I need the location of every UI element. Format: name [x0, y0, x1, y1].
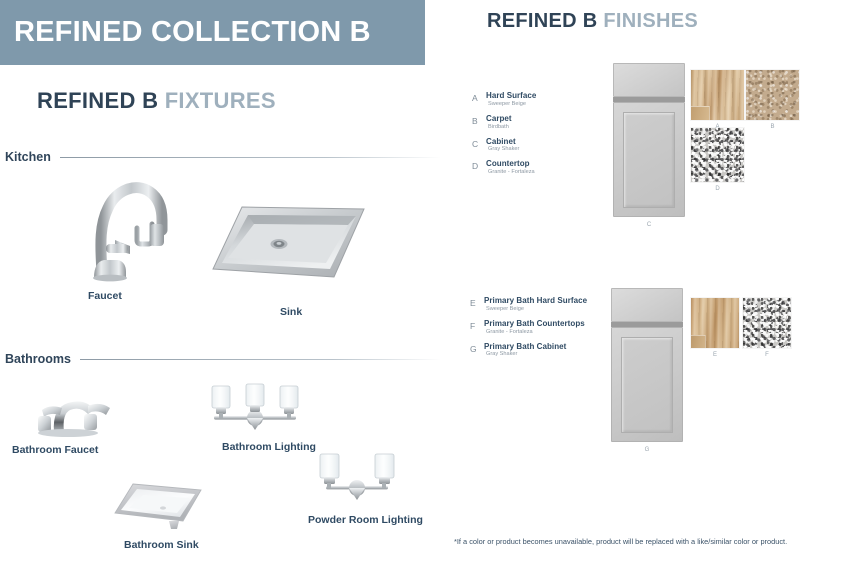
- kitchen-sink-caption: Sink: [280, 306, 302, 318]
- swatch-letter-d: D: [691, 186, 744, 192]
- legend-letter-b: B: [472, 115, 486, 126]
- legend-sub-e: Sweeper Beige: [484, 307, 587, 313]
- legend-letter-c: C: [472, 138, 486, 149]
- fixtures-title-light: FIXTURES: [165, 88, 276, 113]
- cabinet-drawer-front: [613, 63, 685, 97]
- fixtures-title-dark: REFINED B: [37, 88, 158, 113]
- wood-plank-swatch-e: E: [691, 298, 739, 348]
- finishes-legend-top: A Hard Surface Sweeper Beige B Carpet Bi…: [472, 92, 536, 183]
- kitchen-faucet-caption: Faucet: [88, 290, 122, 302]
- legend-sub-g: Gray Shaker: [484, 352, 566, 358]
- swatch-letter-b: B: [746, 124, 799, 130]
- collection-banner: REFINED COLLECTION B: [0, 0, 425, 65]
- finishes-title-light: FINISHES: [603, 10, 698, 32]
- wood-plank-swatch-a: A: [691, 70, 744, 120]
- carpet-swatch-b: B: [746, 70, 799, 120]
- granite-swatch-f: F: [743, 298, 791, 348]
- bathroom-faucet-caption: Bathroom Faucet: [12, 444, 98, 456]
- legend-name-c: Cabinet: [486, 138, 519, 146]
- legend-item-d: D Countertop Granite - Fortaleza: [472, 160, 536, 176]
- cabinet-letter-g: G: [611, 447, 683, 453]
- granite-texture-d: [691, 128, 744, 182]
- bathrooms-section-header: Bathrooms: [5, 352, 441, 366]
- finishes-title-dark: REFINED B: [487, 10, 597, 32]
- legend-item-c: C Cabinet Gray Shaker: [472, 138, 536, 154]
- legend-letter-f: F: [470, 320, 484, 331]
- cabinet-door-swatch-g: G: [611, 288, 683, 442]
- finishes-section-title: REFINED B FINISHES: [487, 10, 698, 33]
- bathroom-sink-caption: Bathroom Sink: [124, 539, 199, 551]
- collection-title: REFINED COLLECTION B: [0, 16, 371, 49]
- bathrooms-divider: [80, 359, 441, 360]
- disclaimer-text: *If a color or product becomes unavailab…: [454, 537, 787, 546]
- design-board: REFINED COLLECTION B REFINED B FIXTURES …: [0, 0, 853, 569]
- wood-texture-a: [691, 70, 744, 120]
- legend-item-b: B Carpet Birdbath: [472, 115, 536, 131]
- cabinet-door-front-g: [611, 327, 683, 442]
- legend-item-e: E Primary Bath Hard Surface Sweeper Beig…: [470, 297, 587, 313]
- legend-letter-g: G: [470, 343, 484, 354]
- legend-sub-b: Birdbath: [486, 125, 512, 131]
- kitchen-label: Kitchen: [5, 150, 51, 164]
- legend-name-b: Carpet: [486, 115, 512, 123]
- legend-sub-d: Granite - Fortaleza: [486, 170, 535, 176]
- cabinet-drawer-front-g: [611, 288, 683, 322]
- bathrooms-label: Bathrooms: [5, 352, 71, 366]
- legend-name-a: Hard Surface: [486, 92, 536, 100]
- legend-letter-a: A: [472, 92, 486, 103]
- legend-name-d: Countertop: [486, 160, 535, 168]
- granite-swatch-d: D: [691, 128, 744, 182]
- powder-room-lighting-caption: Powder Room Lighting: [308, 514, 423, 526]
- carpet-texture-b: [746, 70, 799, 120]
- cabinet-letter-c: C: [613, 222, 685, 228]
- swatch-letter-e: E: [691, 352, 739, 358]
- legend-sub-f: Granite - Fortaleza: [484, 330, 585, 336]
- cabinet-door-swatch-c: C: [613, 63, 685, 217]
- cabinet-recessed-panel-g: [621, 337, 673, 433]
- granite-texture-f: [743, 298, 791, 348]
- finishes-legend-bottom: E Primary Bath Hard Surface Sweeper Beig…: [470, 297, 587, 365]
- legend-sub-a: Sweeper Beige: [486, 102, 536, 108]
- powder-room-lighting-image: [312, 448, 402, 506]
- bathroom-sink-image: [103, 481, 215, 536]
- legend-name-g: Primary Bath Cabinet: [484, 343, 566, 351]
- wood-texture-e: [691, 298, 739, 348]
- cabinet-door-front: [613, 102, 685, 217]
- legend-name-f: Primary Bath Countertops: [484, 320, 585, 328]
- kitchen-sink-image: [208, 203, 368, 285]
- bathroom-faucet-image: [18, 388, 118, 440]
- bathroom-lighting-image: [200, 378, 310, 438]
- legend-name-e: Primary Bath Hard Surface: [484, 297, 587, 305]
- kitchen-section-header: Kitchen: [5, 150, 441, 164]
- legend-item-g: G Primary Bath Cabinet Gray Shaker: [470, 343, 587, 359]
- legend-item-a: A Hard Surface Sweeper Beige: [472, 92, 536, 108]
- legend-letter-e: E: [470, 297, 484, 308]
- legend-letter-d: D: [472, 160, 486, 171]
- legend-item-f: F Primary Bath Countertops Granite - For…: [470, 320, 587, 336]
- bathroom-lighting-caption: Bathroom Lighting: [222, 441, 316, 453]
- swatch-letter-f: F: [743, 352, 791, 358]
- cabinet-recessed-panel: [623, 112, 675, 208]
- legend-sub-c: Gray Shaker: [486, 147, 519, 153]
- kitchen-faucet-image: [78, 168, 180, 286]
- fixtures-section-title: REFINED B FIXTURES: [37, 88, 276, 114]
- kitchen-divider: [60, 157, 441, 158]
